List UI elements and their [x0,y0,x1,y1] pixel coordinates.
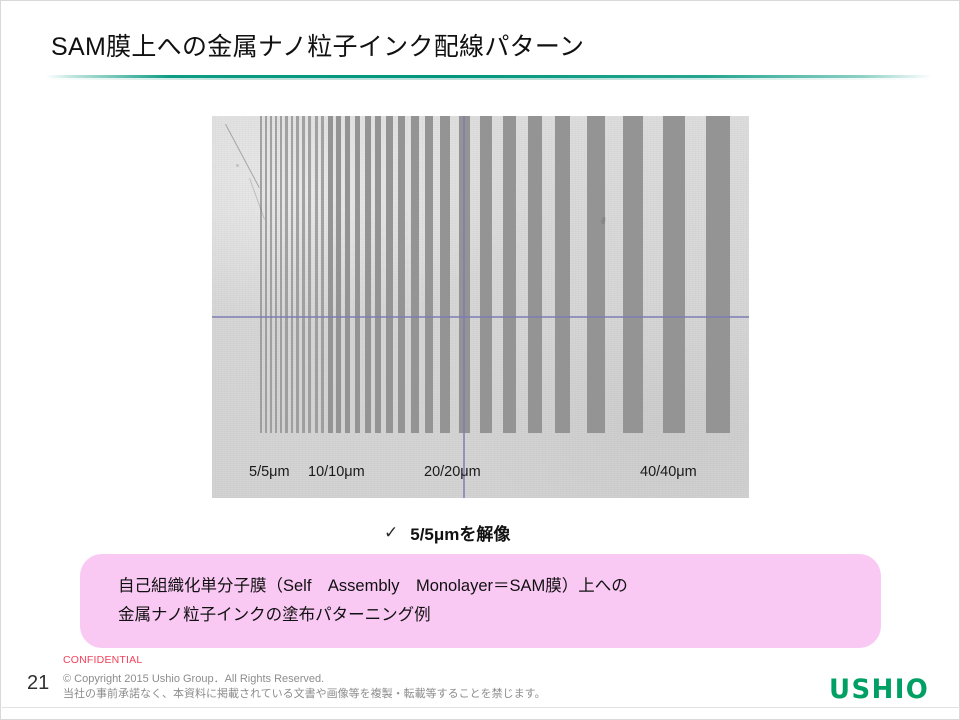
wiring-stripe [365,116,371,433]
callout-line-1: 自己組織化単分子膜（Self Assembly Monolayer＝SAM膜）上… [118,572,858,601]
wiring-stripe [375,116,381,433]
wiring-stripe [440,116,450,433]
wiring-stripe [587,116,605,433]
wiring-stripe [285,116,288,433]
wiring-stripe [623,116,643,433]
copyright-line-1: © Copyright 2015 Ushio Group．All Rights … [63,672,546,687]
wiring-stripe [386,116,393,433]
slide-canvas: SAM膜上への金属ナノ粒子インク配線パターン 5/5μm10/10μm20/20… [0,0,960,720]
footer-divider [2,707,960,708]
wiring-stripe [411,116,419,433]
wiring-stripe [328,116,333,433]
wiring-stripe [302,116,305,433]
scale-label: 40/40μm [640,464,697,480]
ushio-logo: USHIO [829,674,929,705]
title-divider-shadow [46,78,932,80]
page-title: SAM膜上への金属ナノ粒子インク配線パターン [51,27,911,67]
wiring-stripe [398,116,405,433]
copyright-block: © Copyright 2015 Ushio Group．All Rights … [63,672,546,702]
wiring-stripe [345,116,350,433]
wiring-stripe [336,116,341,433]
wiring-stripe [663,116,685,433]
wiring-stripe [260,116,262,433]
wiring-stripe [270,116,272,433]
page-number: 21 [27,672,49,695]
scale-label: 10/10μm [308,464,365,480]
wiring-stripe [480,116,492,433]
description-callout-box: 自己組織化単分子膜（Self Assembly Monolayer＝SAM膜）上… [80,554,881,648]
description-callout-text: 自己組織化単分子膜（Self Assembly Monolayer＝SAM膜）上… [118,572,858,630]
wiring-stripe [528,116,542,433]
wiring-stripe [296,116,299,433]
confidential-label: CONFIDENTIAL [63,654,142,666]
scale-label: 5/5μm [249,464,290,480]
wiring-stripe [280,116,282,433]
resolution-bullet: ✓ 5/5μmを解像 [384,519,510,545]
resolution-bullet-label: 5/5μmを解像 [410,520,510,545]
wiring-stripe [555,116,570,433]
scale-label: 20/20μm [424,464,481,480]
wiring-stripe [265,116,267,433]
title-block: SAM膜上への金属ナノ粒子インク配線パターン [51,27,911,71]
wiring-stripe [275,116,277,433]
copyright-line-2: 当社の事前承諾なく、本資料に掲載されている文書や画像等を複製・転載等することを禁… [63,687,546,702]
micrograph-figure: 5/5μm10/10μm20/20μm40/40μm [212,116,749,498]
check-icon: ✓ [384,524,398,541]
wiring-stripe [308,116,311,433]
wiring-stripe [321,116,324,433]
callout-line-2: 金属ナノ粒子インクの塗布パターニング例 [118,601,858,630]
wiring-stripe-pattern [212,116,749,433]
scale-label-row: 5/5μm10/10μm20/20μm40/40μm [212,464,749,494]
wiring-stripe [291,116,294,433]
wiring-stripe [425,116,433,433]
substrate-speck-1 [236,164,239,167]
crosshair-vertical [463,116,465,498]
crosshair-horizontal [212,316,749,318]
wiring-stripe [315,116,318,433]
wiring-stripe [503,116,516,433]
wiring-stripe [706,116,730,433]
wiring-stripe [355,116,361,433]
